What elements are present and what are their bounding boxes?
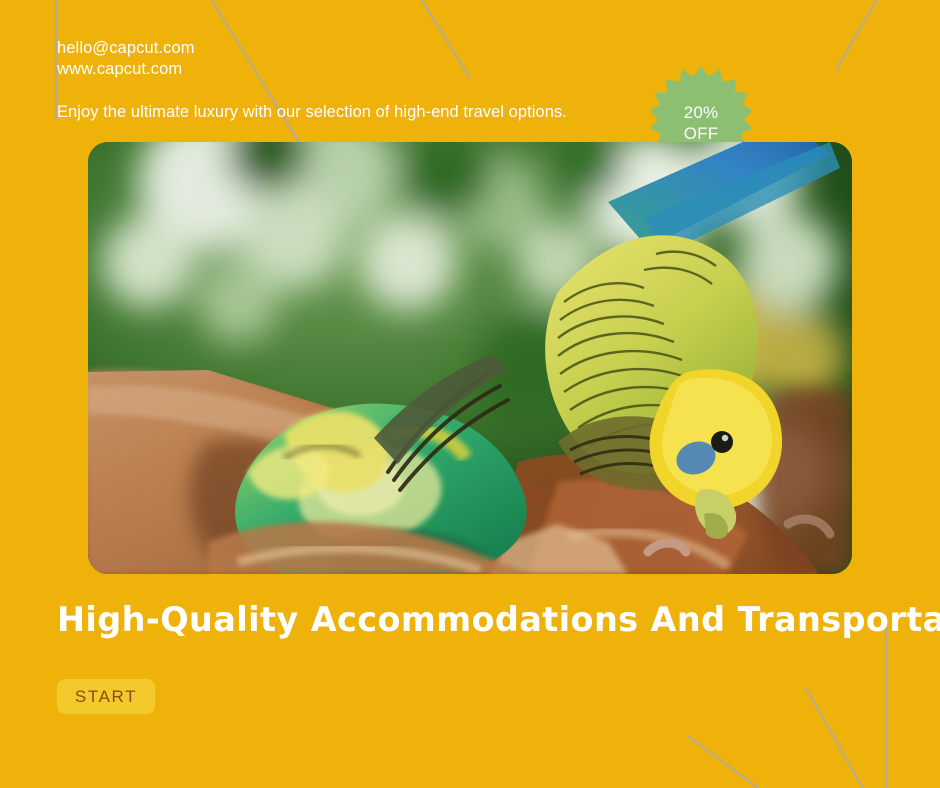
start-button[interactable]: START [57, 679, 155, 714]
tagline-text: Enjoy the ultimate luxury with our selec… [57, 102, 567, 123]
promo-poster: hello@capcut.com www.capcut.com Enjoy th… [0, 0, 940, 788]
hero-photo [88, 142, 852, 574]
contact-block: hello@capcut.com www.capcut.com [57, 38, 195, 79]
contact-email[interactable]: hello@capcut.com [57, 38, 195, 59]
contact-website[interactable]: www.capcut.com [57, 59, 195, 80]
badge-percent: 20% [684, 102, 719, 123]
badge-off: OFF [684, 123, 719, 144]
budgerigar-photo-illustration [88, 142, 852, 574]
page-title: High-Quality Accommodations And Transpor… [57, 598, 884, 642]
